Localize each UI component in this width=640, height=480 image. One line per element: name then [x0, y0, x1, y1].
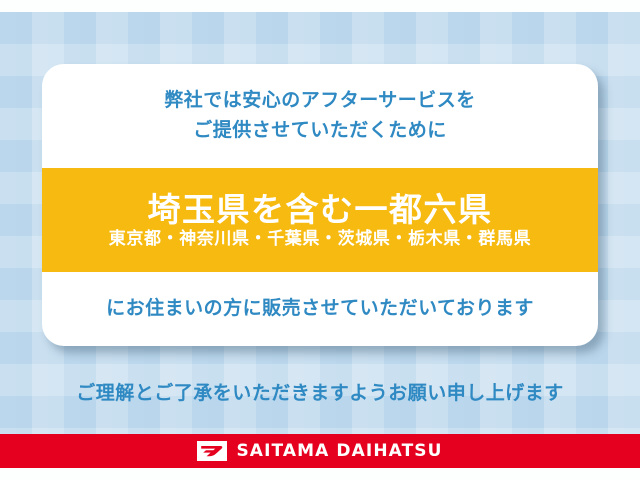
intro-line-1: 弊社では安心のアフターサービスを — [164, 89, 476, 113]
card-outro-block: にお住まいの方に販売させていただいております — [42, 272, 598, 346]
highlight-subtitle-prefecture-list: 東京都・神奈川県・千葉県・茨城県・栃木県・群馬県 — [109, 230, 531, 249]
daihatsu-d-mark-icon — [197, 441, 227, 461]
closing-request-line: ご理解とご了承をいただきますようお願い申し上げます — [0, 378, 640, 405]
outro-line: にお住まいの方に販売させていただいております — [106, 297, 534, 321]
notice-card: 弊社では安心のアフターサービスを ご提供させていただくために 埼玉県を含む一都六… — [42, 64, 598, 346]
brand-name: SAITAMA DAIHATSU — [236, 441, 442, 461]
poster-canvas: 弊社では安心のアフターサービスを ご提供させていただくために 埼玉県を含む一都六… — [0, 0, 640, 480]
intro-line-2: ご提供させていただくために — [193, 119, 447, 143]
top-white-margin — [0, 0, 640, 12]
card-intro-block: 弊社では安心のアフターサービスを ご提供させていただくために — [42, 64, 598, 168]
bottom-white-margin — [0, 468, 640, 480]
highlight-title: 埼玉県を含む一都六県 — [148, 192, 493, 228]
brand-footer-band: SAITAMA DAIHATSU — [0, 434, 640, 468]
highlight-band: 埼玉県を含む一都六県 東京都・神奈川県・千葉県・茨城県・栃木県・群馬県 — [42, 168, 598, 272]
